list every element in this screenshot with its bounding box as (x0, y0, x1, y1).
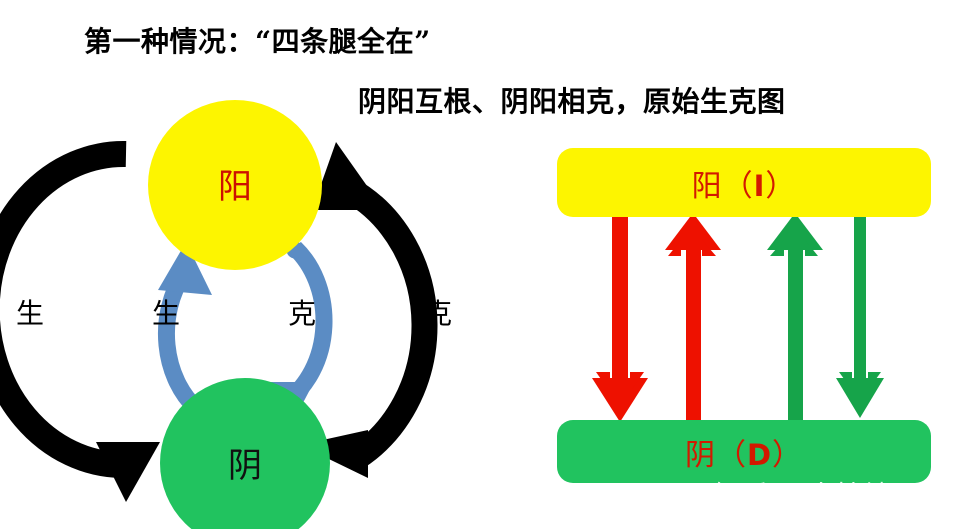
node-yang-label: 阳 (218, 159, 252, 208)
watermark-text: 知乎 @人性地图 (714, 474, 920, 513)
arrow-1-red-down-icon (592, 214, 648, 422)
block-yin-text: 阴（ (685, 438, 747, 473)
arrow-3-green-up-icon (767, 213, 823, 423)
block-yang-tail: ） (765, 169, 796, 204)
arrow-4-green-down-icon (836, 214, 884, 418)
node-yin-label: 阴 (228, 438, 262, 487)
node-yang-circle[interactable]: 阳 (148, 100, 322, 270)
arrow-2-red-up-icon (665, 213, 721, 423)
block-box-yin-label: 阴（D） (685, 430, 803, 474)
block-yin-marker: D (747, 438, 772, 472)
cycle-label-sheng-inner: 生 (152, 292, 180, 332)
block-yang-text: 阳（ (692, 169, 754, 204)
yin-yang-block-diagram: 阳（I） 阴（D） (0, 0, 955, 529)
cycle-label-ke-inner: 克 (288, 292, 316, 332)
cycle-label-sheng-outer: 生 (16, 292, 44, 332)
block-yang-marker: I (754, 169, 766, 203)
cycle-label-ke-outer: 克 (424, 292, 452, 332)
diagram-canvas: 第一种情况：“四条腿全在” 阴阳互根、阴阳相克，原始生克图 (0, 0, 955, 529)
block-box-yang[interactable]: 阳（I） (557, 148, 931, 217)
block-yin-tail: ） (772, 438, 803, 473)
block-box-yang-label: 阳（I） (692, 161, 797, 205)
